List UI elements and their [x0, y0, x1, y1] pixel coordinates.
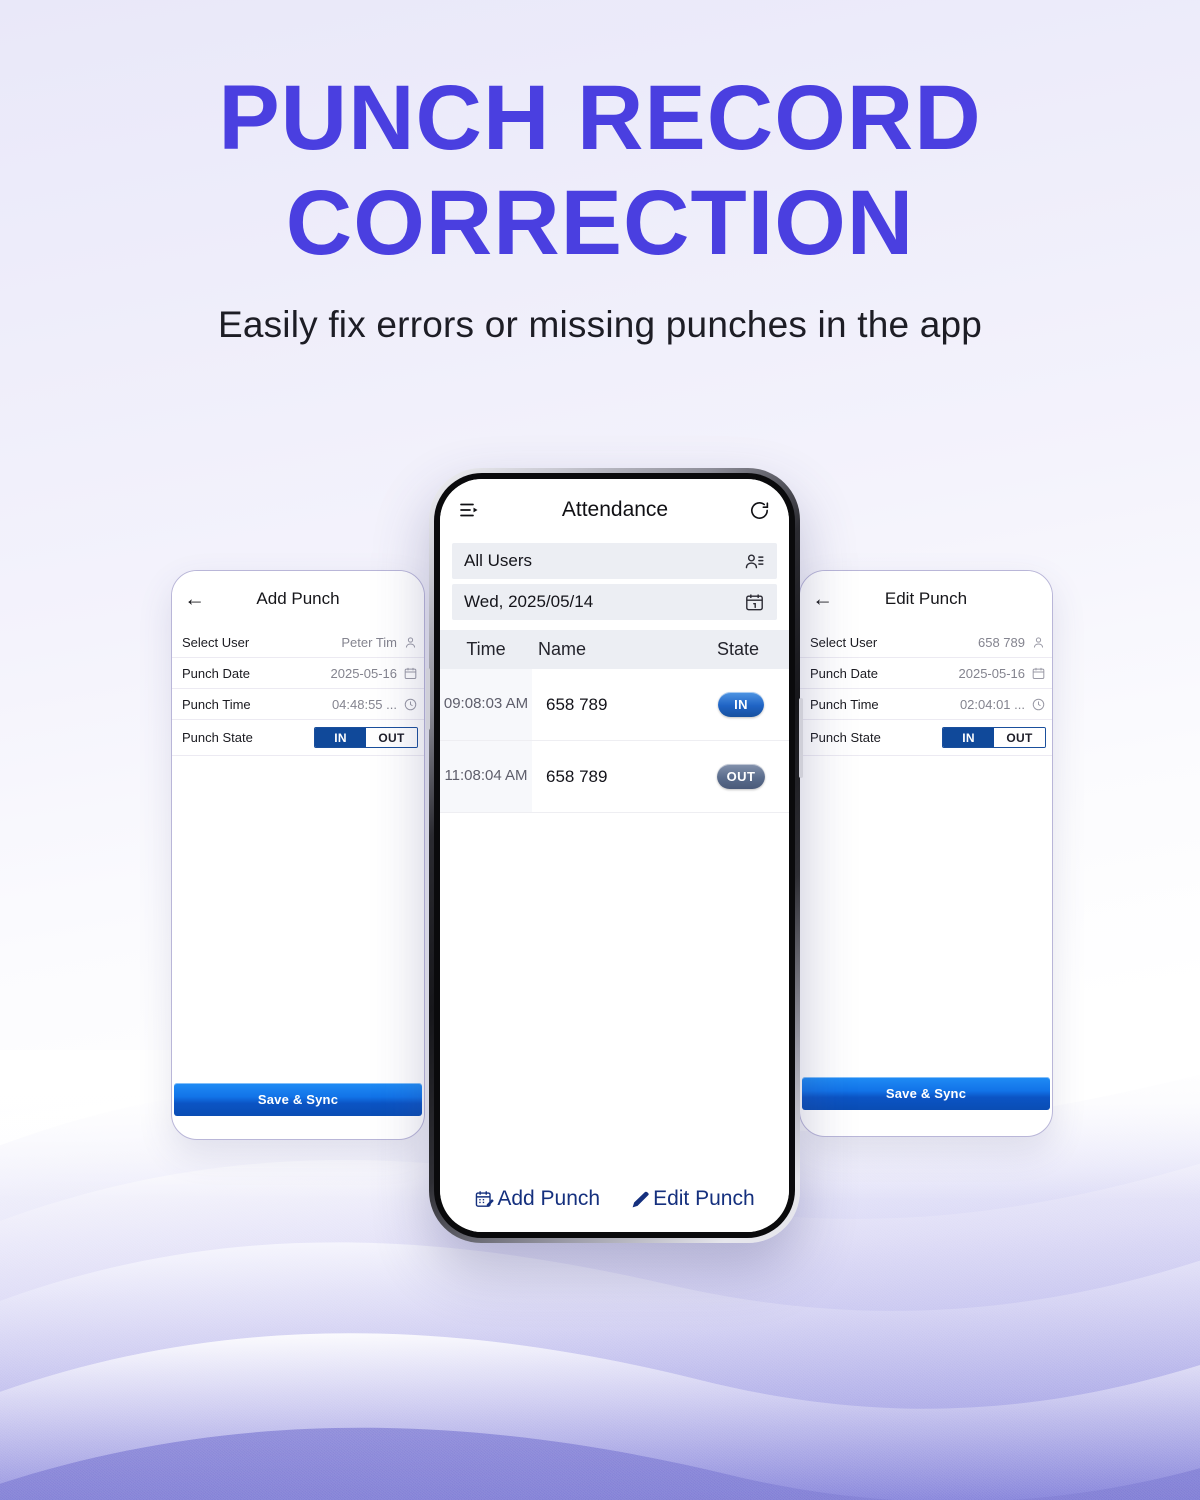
- status-badge: OUT: [717, 764, 766, 789]
- pencil-icon: [630, 1189, 651, 1210]
- edit-punch-body: Select User 658 789 Punch Date 2025-05-1…: [800, 627, 1052, 756]
- field-label: Punch Date: [810, 666, 878, 681]
- empty-list-area: [440, 813, 789, 1172]
- field-label: Select User: [182, 635, 249, 650]
- row-time: 09:08:03 AM: [440, 669, 532, 740]
- row-name: 658 789: [532, 741, 693, 812]
- punch-state-in-option[interactable]: IN: [315, 728, 366, 747]
- field-value: 2025-05-16: [331, 666, 398, 681]
- field-value: 658 789: [978, 635, 1025, 650]
- calendar-add-icon: [474, 1189, 495, 1210]
- clock-icon: [403, 697, 418, 712]
- field-punch-date[interactable]: Punch Date 2025-05-16: [172, 658, 424, 689]
- headline-line-2: CORRECTION: [0, 171, 1200, 276]
- field-select-user[interactable]: Select User Peter Tim: [172, 627, 424, 658]
- column-header-time: Time: [440, 639, 532, 660]
- tab-edit-punch-label: Edit Punch: [653, 1187, 755, 1211]
- user-filter-value: All Users: [464, 551, 744, 571]
- field-punch-state: Punch State IN OUT: [172, 720, 424, 756]
- punch-state-out-option[interactable]: OUT: [994, 728, 1045, 747]
- app-title: Attendance: [482, 498, 748, 522]
- phone-bezel: Attendance All Users: [434, 473, 795, 1238]
- add-punch-body: Select User Peter Tim Punch Date 2025-05…: [172, 627, 424, 756]
- field-label: Punch Date: [182, 666, 250, 681]
- table-row[interactable]: 11:08:04 AM 658 789 OUT: [440, 741, 789, 813]
- edit-punch-title: Edit Punch: [885, 589, 967, 609]
- tab-edit-punch[interactable]: Edit Punch: [630, 1187, 755, 1211]
- punch-state-toggle[interactable]: IN OUT: [314, 727, 418, 748]
- edit-punch-header: ← Edit Punch: [800, 571, 1052, 627]
- field-label: Punch State: [810, 730, 881, 745]
- headline-line-1: PUNCH RECORD: [0, 66, 1200, 171]
- punch-state-toggle[interactable]: IN OUT: [942, 727, 1046, 748]
- refresh-icon[interactable]: [748, 499, 771, 522]
- user-filter[interactable]: All Users: [452, 543, 777, 579]
- page-title: PUNCH RECORD CORRECTION: [0, 66, 1200, 276]
- field-punch-time[interactable]: Punch Time 04:48:55 ...: [172, 689, 424, 720]
- add-punch-title: Add Punch: [256, 589, 339, 609]
- field-label: Select User: [810, 635, 877, 650]
- table-row[interactable]: 09:08:03 AM 658 789 IN: [440, 669, 789, 741]
- row-time: 11:08:04 AM: [440, 741, 532, 812]
- field-value: 02:04:01 ...: [960, 697, 1025, 712]
- punch-state-out-option[interactable]: OUT: [366, 728, 417, 747]
- phone-screen: Attendance All Users: [440, 479, 789, 1232]
- field-punch-state: Punch State IN OUT: [800, 720, 1052, 756]
- field-value: Peter Tim: [341, 635, 397, 650]
- field-punch-date[interactable]: Punch Date 2025-05-16: [800, 658, 1052, 689]
- date-filter-value: Wed, 2025/05/14: [464, 592, 744, 612]
- calendar-icon: [403, 666, 418, 681]
- save-and-sync-button[interactable]: Save & Sync: [174, 1083, 422, 1116]
- tab-add-punch[interactable]: Add Punch: [474, 1187, 600, 1211]
- user-icon: [403, 635, 418, 650]
- field-select-user[interactable]: Select User 658 789: [800, 627, 1052, 658]
- edit-punch-card: ← Edit Punch Select User 658 789 Punch D…: [799, 570, 1053, 1137]
- row-name: 658 789: [532, 669, 693, 740]
- bottom-tab-bar: Add Punch Edit Punch: [440, 1172, 789, 1232]
- field-label: Punch Time: [182, 697, 251, 712]
- field-punch-time[interactable]: Punch Time 02:04:01 ...: [800, 689, 1052, 720]
- punch-table-header: Time Name State: [440, 630, 789, 669]
- field-value: 2025-05-16: [959, 666, 1026, 681]
- clock-icon: [1031, 697, 1046, 712]
- row-state: IN: [693, 669, 789, 740]
- field-label: Punch Time: [810, 697, 879, 712]
- field-value: 04:48:55 ...: [332, 697, 397, 712]
- column-header-state: State: [693, 639, 789, 660]
- page-subtitle: Easily fix errors or missing punches in …: [0, 304, 1200, 346]
- date-filter[interactable]: Wed, 2025/05/14: [452, 584, 777, 620]
- user-icon: [1031, 635, 1046, 650]
- save-and-sync-button[interactable]: Save & Sync: [802, 1077, 1050, 1110]
- calendar-icon: [1031, 666, 1046, 681]
- status-badge: IN: [718, 692, 764, 717]
- volume-button[interactable]: [426, 668, 430, 730]
- back-arrow-icon[interactable]: ←: [812, 589, 833, 610]
- tab-add-punch-label: Add Punch: [497, 1187, 600, 1211]
- app-header: Attendance: [440, 479, 789, 541]
- field-label: Punch State: [182, 730, 253, 745]
- add-punch-header: ← Add Punch: [172, 571, 424, 627]
- punch-state-in-option[interactable]: IN: [943, 728, 994, 747]
- add-punch-card: ← Add Punch Select User Peter Tim Punch …: [171, 570, 425, 1140]
- user-list-icon: [744, 551, 765, 572]
- column-header-name: Name: [532, 639, 693, 660]
- calendar-icon: [744, 592, 765, 613]
- poster-canvas: PUNCH RECORD CORRECTION Easily fix error…: [0, 0, 1200, 1500]
- row-state: OUT: [693, 741, 789, 812]
- menu-arrow-icon[interactable]: [458, 498, 482, 522]
- phone-mockup: Attendance All Users: [429, 468, 800, 1243]
- power-button[interactable]: [799, 698, 803, 778]
- back-arrow-icon[interactable]: ←: [184, 589, 205, 610]
